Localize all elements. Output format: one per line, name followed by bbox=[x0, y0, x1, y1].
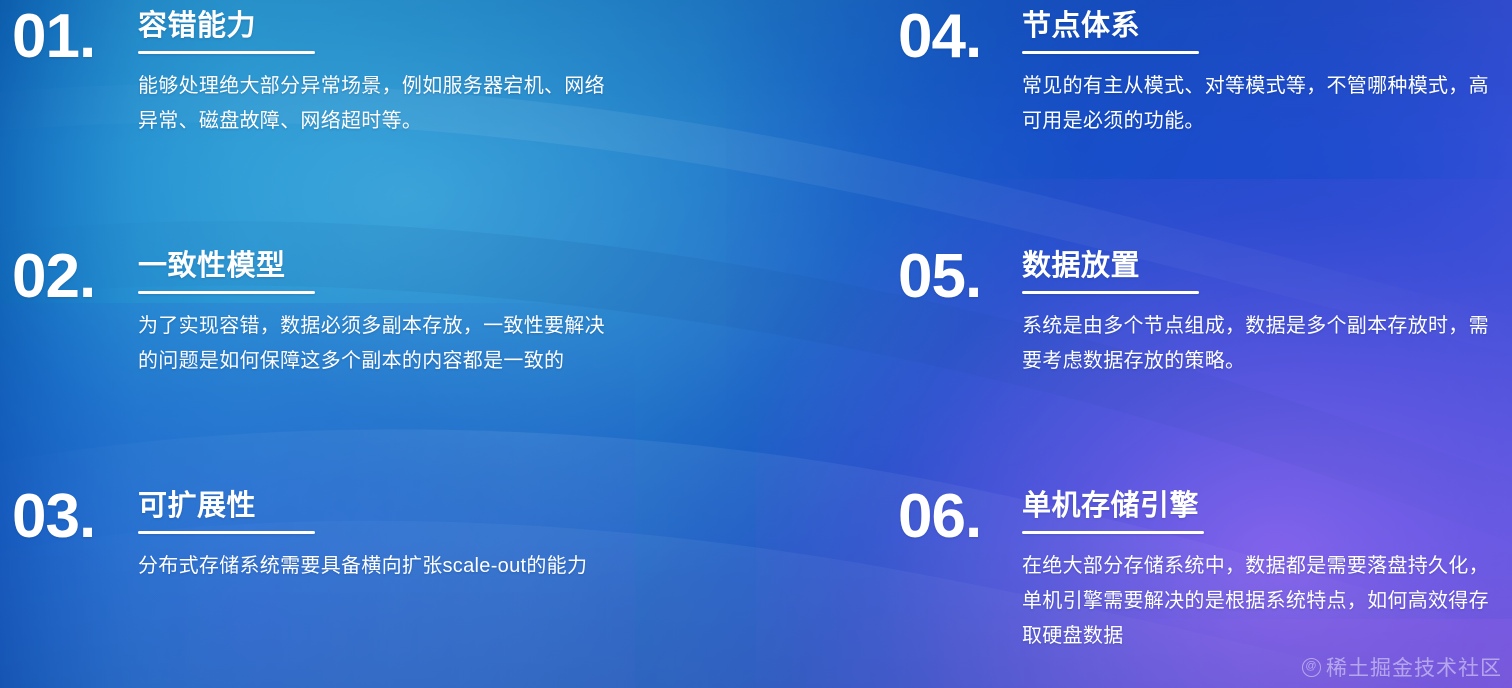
item-description-06: 在绝大部分存储系统中，数据都是需要落盘持久化，单机引擎需要解决的是根据系统特点，… bbox=[1022, 549, 1500, 654]
title-underline-01 bbox=[138, 51, 315, 54]
feature-item-05: 05. 数据放置 系统是由多个节点组成，数据是多个副本存放时，需要考虑数据存放的… bbox=[898, 244, 1512, 379]
feature-item-01: 01. 容错能力 能够处理绝大部分异常场景，例如服务器宕机、网络异常、磁盘故障、… bbox=[12, 4, 652, 139]
feature-item-06: 06. 单机存储引擎 在绝大部分存储系统中，数据都是需要落盘持久化，单机引擎需要… bbox=[898, 484, 1512, 654]
item-body-05: 数据放置 系统是由多个节点组成，数据是多个副本存放时，需要考虑数据存放的策略。 bbox=[1022, 244, 1512, 379]
item-number-03: 03. bbox=[12, 484, 138, 548]
title-underline-02 bbox=[138, 291, 315, 294]
item-description-05: 系统是由多个节点组成，数据是多个副本存放时，需要考虑数据存放的策略。 bbox=[1022, 309, 1500, 379]
item-title-05: 数据放置 bbox=[1022, 250, 1512, 282]
feature-item-02: 02. 一致性模型 为了实现容错，数据必须多副本存放，一致性要解决的问题是如何保… bbox=[12, 244, 652, 379]
item-body-04: 节点体系 常见的有主从模式、对等模式等，不管哪种模式，高可用是必须的功能。 bbox=[1022, 4, 1512, 139]
items-grid: 01. 容错能力 能够处理绝大部分异常场景，例如服务器宕机、网络异常、磁盘故障、… bbox=[0, 0, 1512, 688]
title-underline-05 bbox=[1022, 291, 1199, 294]
title-underline-03 bbox=[138, 531, 315, 534]
item-title-04: 节点体系 bbox=[1022, 10, 1512, 42]
item-number-02: 02. bbox=[12, 244, 138, 308]
item-title-03: 可扩展性 bbox=[138, 490, 652, 522]
slide-canvas: 01. 容错能力 能够处理绝大部分异常场景，例如服务器宕机、网络异常、磁盘故障、… bbox=[0, 0, 1512, 688]
item-number-05: 05. bbox=[898, 244, 1022, 308]
item-body-01: 容错能力 能够处理绝大部分异常场景，例如服务器宕机、网络异常、磁盘故障、网络超时… bbox=[138, 4, 652, 139]
title-underline-06 bbox=[1022, 531, 1204, 534]
item-description-04: 常见的有主从模式、对等模式等，不管哪种模式，高可用是必须的功能。 bbox=[1022, 69, 1500, 139]
item-number-06: 06. bbox=[898, 484, 1022, 548]
item-body-03: 可扩展性 分布式存储系统需要具备横向扩张scale-out的能力 bbox=[138, 484, 652, 584]
feature-item-04: 04. 节点体系 常见的有主从模式、对等模式等，不管哪种模式，高可用是必须的功能… bbox=[898, 4, 1512, 139]
item-number-04: 04. bbox=[898, 4, 1022, 68]
item-body-06: 单机存储引擎 在绝大部分存储系统中，数据都是需要落盘持久化，单机引擎需要解决的是… bbox=[1022, 484, 1512, 654]
item-description-03: 分布式存储系统需要具备横向扩张scale-out的能力 bbox=[138, 549, 608, 584]
item-description-01: 能够处理绝大部分异常场景，例如服务器宕机、网络异常、磁盘故障、网络超时等。 bbox=[138, 69, 608, 139]
item-number-01: 01. bbox=[12, 4, 138, 68]
title-underline-04 bbox=[1022, 51, 1199, 54]
item-title-06: 单机存储引擎 bbox=[1022, 490, 1512, 522]
item-body-02: 一致性模型 为了实现容错，数据必须多副本存放，一致性要解决的问题是如何保障这多个… bbox=[138, 244, 652, 379]
item-description-02: 为了实现容错，数据必须多副本存放，一致性要解决的问题是如何保障这多个副本的内容都… bbox=[138, 309, 608, 379]
item-title-01: 容错能力 bbox=[138, 10, 652, 42]
feature-item-03: 03. 可扩展性 分布式存储系统需要具备横向扩张scale-out的能力 bbox=[12, 484, 652, 584]
item-title-02: 一致性模型 bbox=[138, 250, 652, 282]
